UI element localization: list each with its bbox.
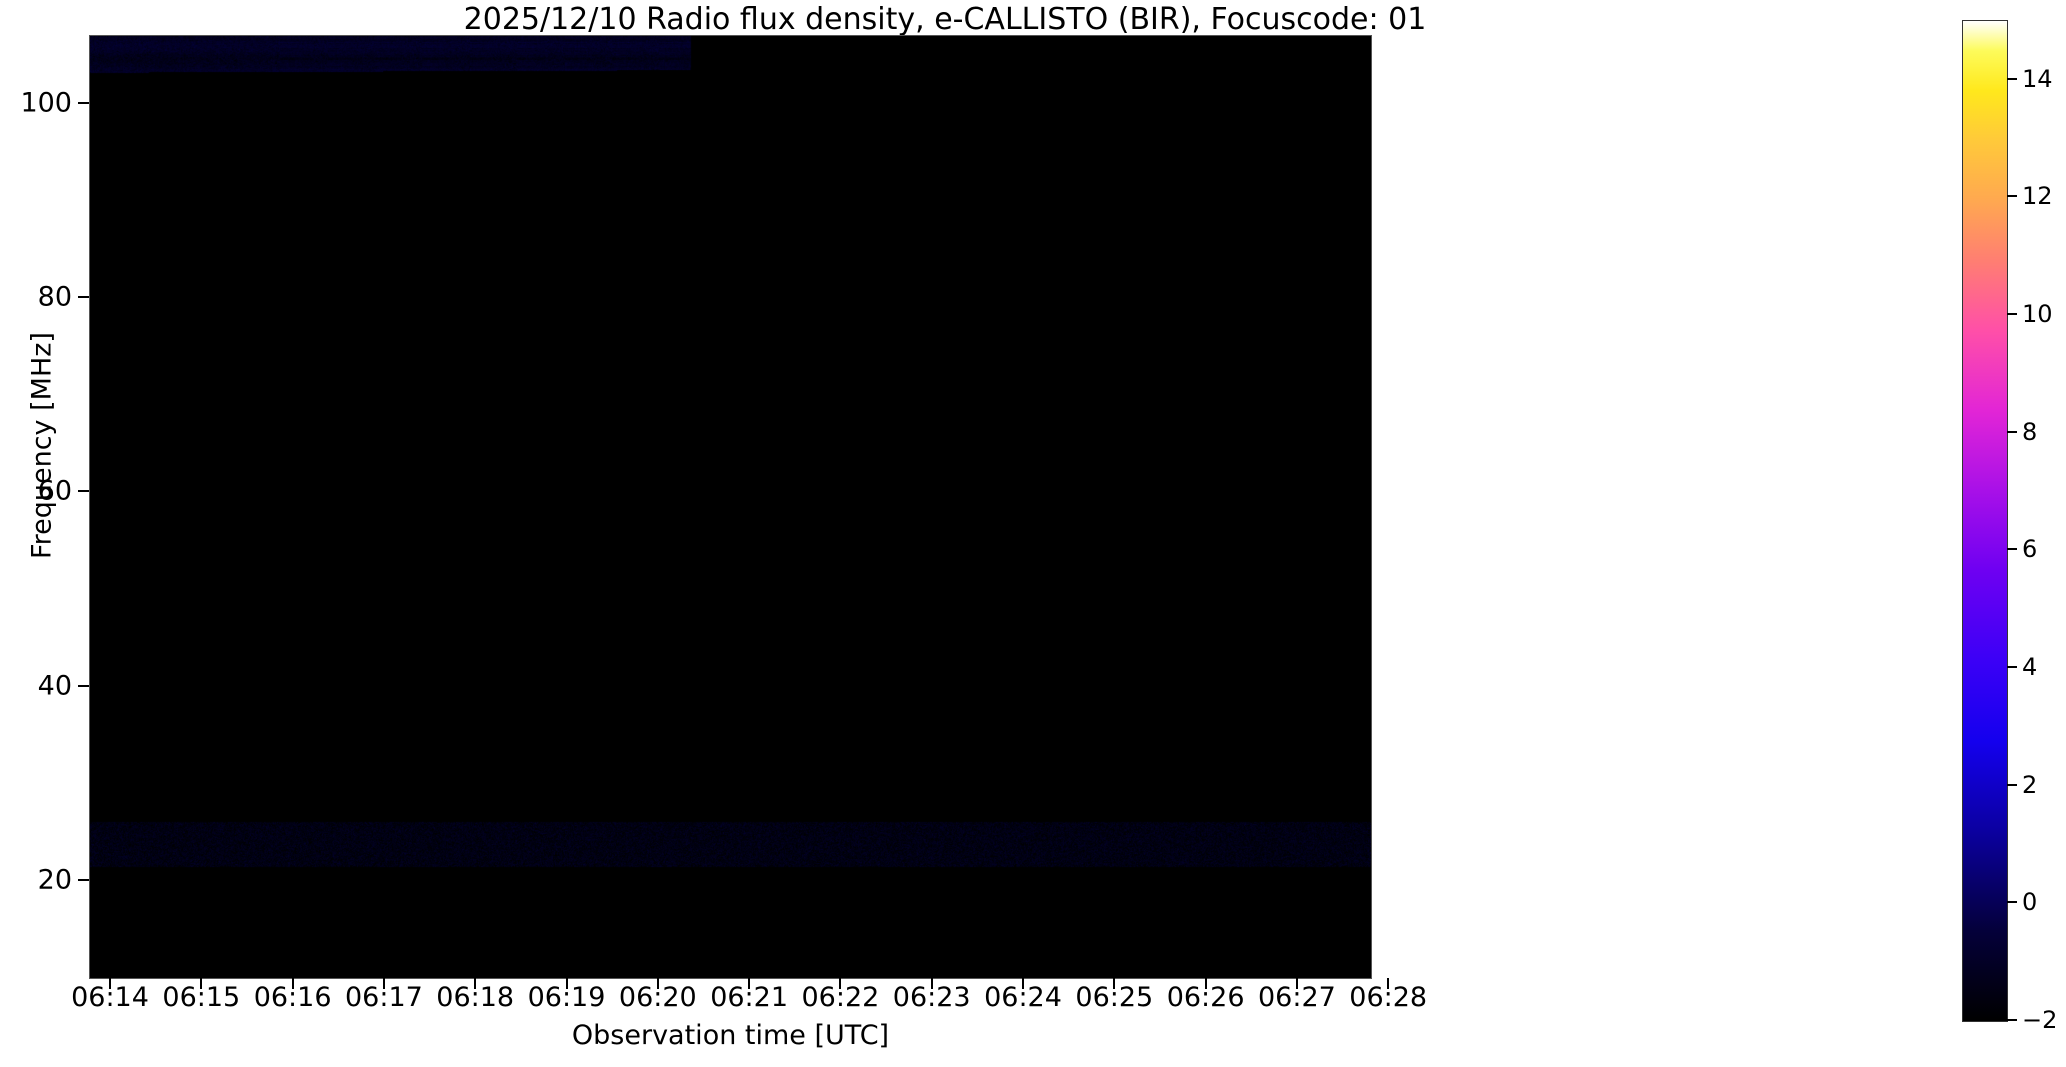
x-tick-mark <box>1387 978 1389 989</box>
colorbar <box>1962 20 2008 1022</box>
y-tick-mark <box>78 296 89 298</box>
colorbar-tick-mark <box>2007 784 2017 786</box>
y-tick-label: 20 <box>38 864 72 895</box>
x-tick-mark <box>1113 978 1115 989</box>
colorbar-tick-label: 6 <box>2022 535 2037 563</box>
colorbar-tick-label: −2 <box>2022 1006 2057 1034</box>
colorbar-tick-label: 4 <box>2022 653 2037 681</box>
y-tick-mark <box>78 879 89 881</box>
x-tick-mark <box>566 978 568 989</box>
colorbar-tick-mark <box>2007 1019 2017 1021</box>
x-tick-mark <box>839 978 841 989</box>
x-tick-mark <box>292 978 294 989</box>
x-tick-mark <box>1205 978 1207 989</box>
colorbar-tick-label: 12 <box>2022 182 2053 210</box>
spectrogram-plot-area <box>89 35 1372 979</box>
spectrogram-image <box>90 36 1371 978</box>
x-tick-mark <box>109 978 111 989</box>
x-tick-mark <box>748 978 750 989</box>
colorbar-tick-label: 8 <box>2022 418 2037 446</box>
colorbar-tick-mark <box>2007 78 2017 80</box>
chart-title: 2025/12/10 Radio flux density, e-CALLIST… <box>0 2 1890 37</box>
x-tick-mark <box>1022 978 1024 989</box>
colorbar-tick-label: 14 <box>2022 65 2053 93</box>
y-tick-label: 40 <box>38 670 72 701</box>
colorbar-tick-mark <box>2007 901 2017 903</box>
spectrogram-figure: 2025/12/10 Radio flux density, e-CALLIST… <box>0 0 2066 1067</box>
colorbar-tick-label: 10 <box>2022 300 2053 328</box>
x-tick-mark <box>474 978 476 989</box>
y-axis-label: Frequency [MHz] <box>27 286 58 606</box>
colorbar-gradient <box>1963 21 2007 1021</box>
colorbar-tick-mark <box>2007 431 2017 433</box>
colorbar-tick-mark <box>2007 548 2017 550</box>
colorbar-tick-label: 2 <box>2022 771 2037 799</box>
y-tick-mark <box>78 685 89 687</box>
x-tick-mark <box>1296 978 1298 989</box>
colorbar-tick-mark <box>2007 666 2017 668</box>
x-axis-label: Observation time [UTC] <box>89 1020 1372 1051</box>
x-tick-mark <box>931 978 933 989</box>
y-tick-mark <box>78 490 89 492</box>
colorbar-tick-label: 0 <box>2022 888 2037 916</box>
x-tick-mark <box>657 978 659 989</box>
x-tick-mark <box>383 978 385 989</box>
x-tick-mark <box>200 978 202 989</box>
colorbar-tick-mark <box>2007 313 2017 315</box>
colorbar-tick-mark <box>2007 195 2017 197</box>
y-tick-mark <box>78 102 89 104</box>
y-tick-label: 100 <box>20 87 72 118</box>
